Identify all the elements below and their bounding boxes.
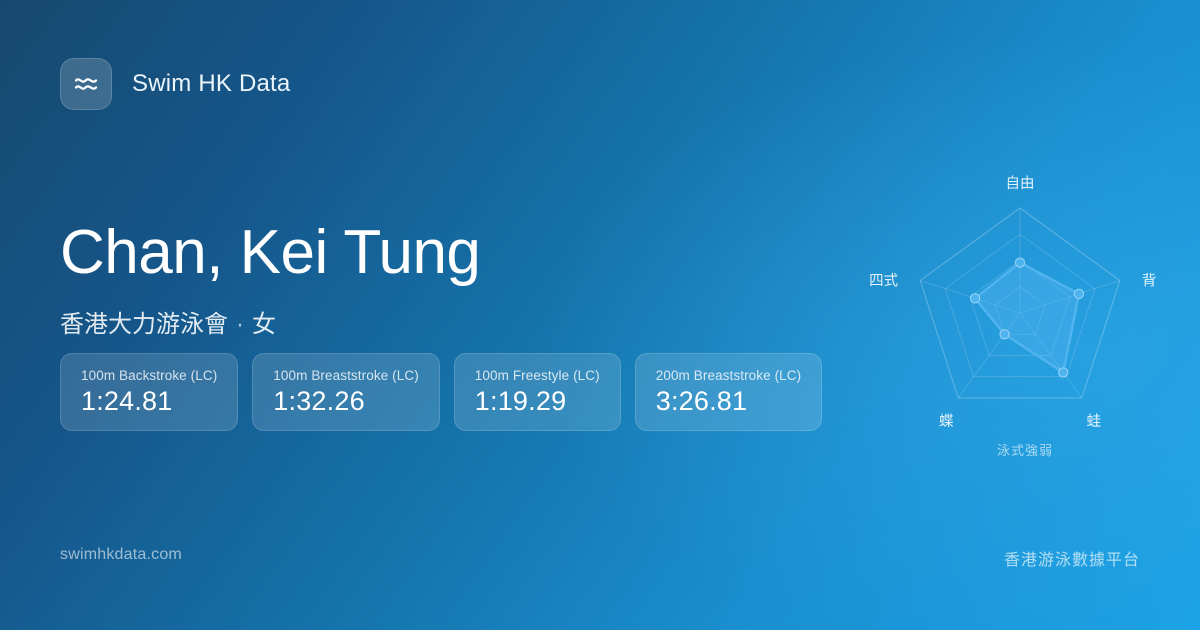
stat-card-list: 100m Backstroke (LC) 1:24.81 100m Breast…	[60, 353, 822, 431]
stat-card-value: 1:24.81	[81, 387, 217, 415]
headline-block: Chan, Kei Tung 香港大力游泳會·女	[60, 222, 480, 339]
stat-card[interactable]: 100m Breaststroke (LC) 1:32.26	[252, 353, 440, 431]
stat-card[interactable]: 200m Breaststroke (LC) 3:26.81	[635, 353, 823, 431]
athlete-meta: 香港大力游泳會·女	[60, 304, 480, 339]
stat-card-value: 1:19.29	[475, 387, 600, 415]
brand-lockup[interactable]: Swim HK Data	[60, 58, 290, 110]
stat-card-label: 100m Backstroke (LC)	[81, 368, 217, 383]
stat-card-value: 3:26.81	[656, 387, 802, 415]
footer-site-url[interactable]: swimhkdata.com	[60, 546, 182, 564]
radar-chart: 自由背蛙蝶四式 泳式強弱	[880, 170, 1170, 470]
radar-axis-label: 背	[1142, 273, 1157, 290]
stat-card[interactable]: 100m Backstroke (LC) 1:24.81	[60, 353, 238, 431]
athlete-club: 香港大力游泳會	[60, 311, 228, 338]
meta-separator: ·	[236, 311, 244, 338]
radar-axis-label: 蝶	[939, 413, 954, 430]
footer-tagline: 香港游泳數據平台	[1004, 546, 1140, 570]
athlete-gender: 女	[252, 311, 276, 338]
radar-point	[1074, 289, 1083, 298]
stat-card-label: 100m Breaststroke (LC)	[273, 368, 419, 383]
brand-name: Swim HK Data	[132, 70, 290, 98]
share-card: Swim HK Data Chan, Kei Tung 香港大力游泳會·女 10…	[0, 0, 1200, 630]
radar-point	[1000, 330, 1009, 339]
radar-point	[970, 294, 979, 303]
page-title: Chan, Kei Tung	[60, 222, 480, 284]
wave-icon	[60, 58, 112, 110]
radar-axis-label: 蛙	[1086, 413, 1101, 430]
stat-card-label: 100m Freestyle (LC)	[475, 368, 600, 383]
radar-point	[1059, 368, 1068, 377]
stat-card-value: 1:32.26	[273, 387, 419, 415]
radar-axis-label: 自由	[1006, 175, 1035, 192]
radar-caption: 泳式強弱	[880, 440, 1170, 459]
radar-axis-label: 四式	[869, 273, 898, 290]
stat-card[interactable]: 100m Freestyle (LC) 1:19.29	[454, 353, 621, 431]
radar-series-area	[975, 263, 1079, 373]
radar-point	[1015, 258, 1024, 267]
stat-card-label: 200m Breaststroke (LC)	[656, 368, 802, 383]
